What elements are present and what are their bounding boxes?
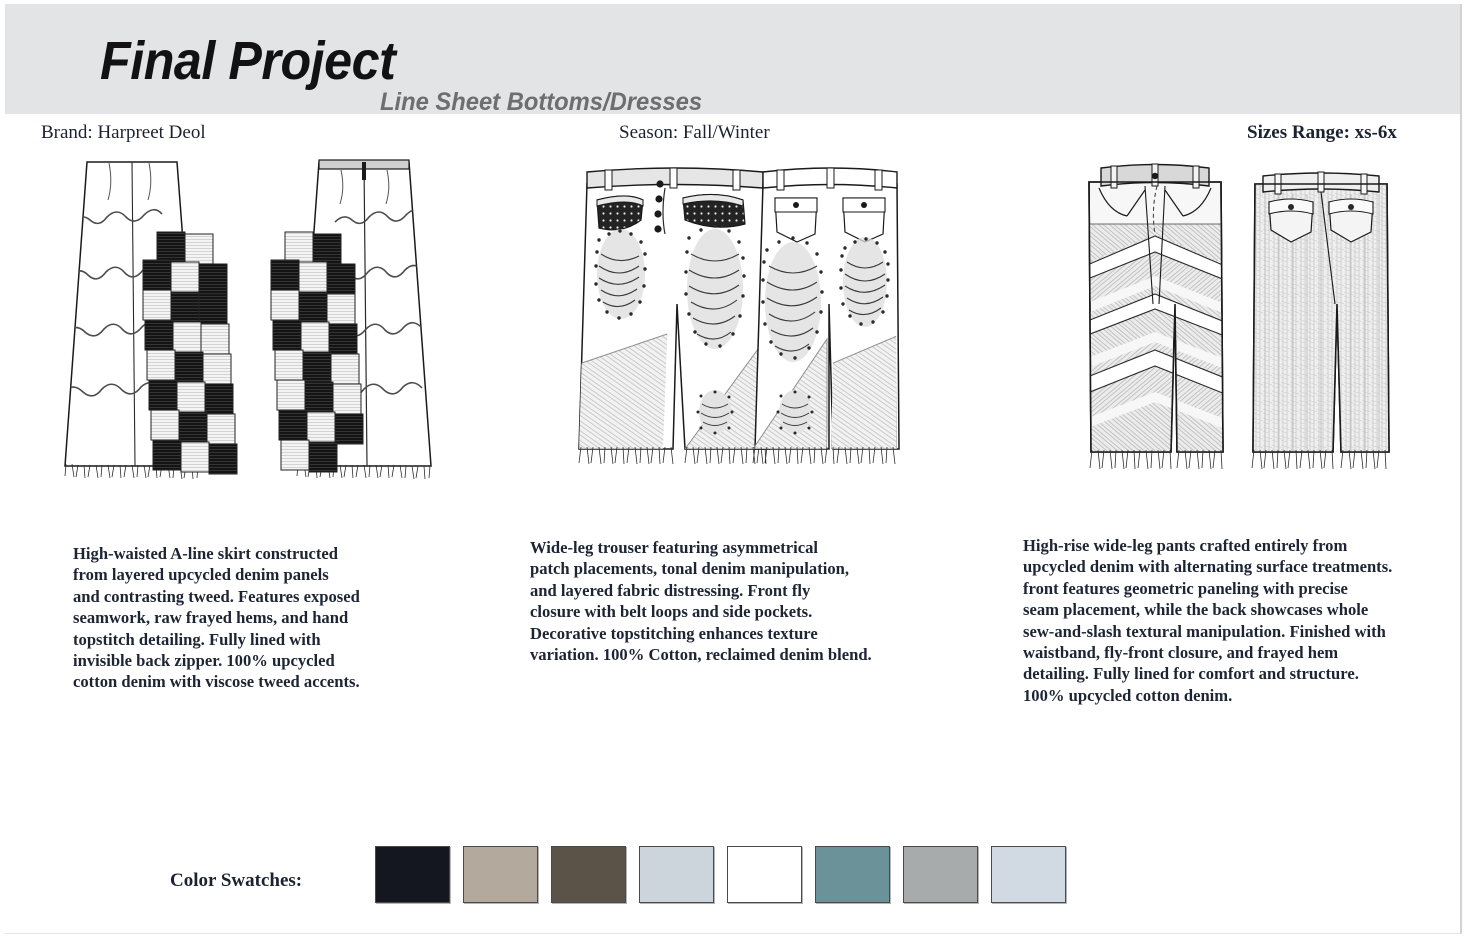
studded-patch-pocket-right [683,194,745,227]
brand-label: Brand: Harpreet Deol [41,122,206,144]
style-1-description: High-waisted A-line skirt constructed fr… [73,543,473,693]
color-swatch-teal[interactable] [815,846,890,903]
sew-and-slash-texture-panel [1245,184,1397,456]
pants-back-view [1245,172,1397,469]
high-rise-wide-leg-pants-flat-sketch [1065,154,1405,489]
color-swatch-light-blue-grey[interactable] [991,846,1066,903]
a-line-skirt-flat-sketch [57,154,457,489]
color-swatches-label: Color Swatches: [170,870,302,892]
color-swatch-list [375,846,1066,903]
frayed-hem-front [1090,450,1222,469]
color-swatch-medium-grey[interactable] [903,846,978,903]
checkerboard-patch-panel-front [143,232,237,474]
distress-zone-back-hem [777,390,814,435]
color-swatch-row: Color Swatches: [170,844,1250,910]
style-3-description: High-rise wide-leg pants crafted entirel… [1023,535,1453,706]
distress-zone-front-hem [697,390,734,435]
page-subtitle: Line Sheet Bottoms/Dresses [380,88,702,117]
line-sheet-page: Final Project Line Sheet Bottoms/Dresses… [5,4,1462,934]
pants-front-view [1085,164,1225,469]
sizes-range-label: Sizes Range: xs-6x [1247,122,1397,144]
style-2-description: Wide-leg trouser featuring asymmetrical … [530,537,950,665]
color-swatch-ink-black[interactable] [375,846,450,903]
trouser-front-view [579,168,769,464]
color-swatch-white[interactable] [727,846,802,903]
checkerboard-patch-panel-back [271,232,363,472]
season-label: Season: Fall/Winter [619,122,770,144]
color-swatch-dark-brown[interactable] [551,846,626,903]
page-title: Final Project [100,30,395,92]
frayed-hem-back [1252,450,1386,469]
meta-row: Brand: Harpreet Deol Season: Fall/Winter… [5,122,1462,148]
waist-button [1152,173,1158,179]
color-swatch-warm-taupe[interactable] [463,846,538,903]
trouser-back-view [753,168,899,464]
wide-leg-trouser-flat-sketch [565,154,905,489]
header-banner: Final Project Line Sheet Bottoms/Dresses [5,4,1462,114]
color-swatch-pale-denim-blue[interactable] [639,846,714,903]
